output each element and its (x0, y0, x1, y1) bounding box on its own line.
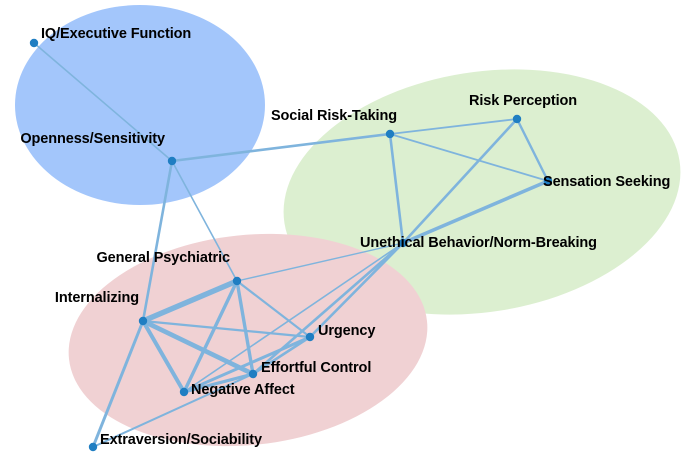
node-gen_psych[interactable] (233, 277, 241, 285)
node-label-extraversion: Extraversion/Sociability (100, 433, 262, 448)
node-label-iq: IQ/Executive Function (41, 27, 191, 42)
node-label-unethical: Unethical Behavior/Norm-Breaking (360, 236, 597, 251)
node-label-internal: Internalizing (55, 291, 139, 306)
node-label-neg_affect: Negative Affect (191, 383, 295, 398)
node-label-social_risk: Social Risk-Taking (271, 109, 397, 124)
node-label-sensation: Sensation Seeking (543, 175, 670, 190)
node-label-gen_psych: General Psychiatric (96, 251, 230, 266)
node-label-openness: Openness/Sensitivity (20, 132, 165, 147)
node-openness[interactable] (168, 157, 176, 165)
node-extraversion[interactable] (89, 443, 97, 451)
node-neg_affect[interactable] (180, 388, 188, 396)
node-internal[interactable] (139, 317, 147, 325)
node-effortful[interactable] (249, 370, 257, 378)
node-risk_perc[interactable] (513, 115, 521, 123)
network-diagram: IQ/Executive FunctionOpenness/Sensitivit… (0, 0, 685, 460)
node-social_risk[interactable] (386, 130, 394, 138)
node-label-effortful: Effortful Control (261, 361, 371, 376)
node-iq[interactable] (30, 39, 38, 47)
node-label-urgency: Urgency (318, 324, 375, 339)
node-urgency[interactable] (306, 333, 314, 341)
network-canvas (0, 0, 685, 460)
node-label-risk_perc: Risk Perception (469, 94, 577, 109)
